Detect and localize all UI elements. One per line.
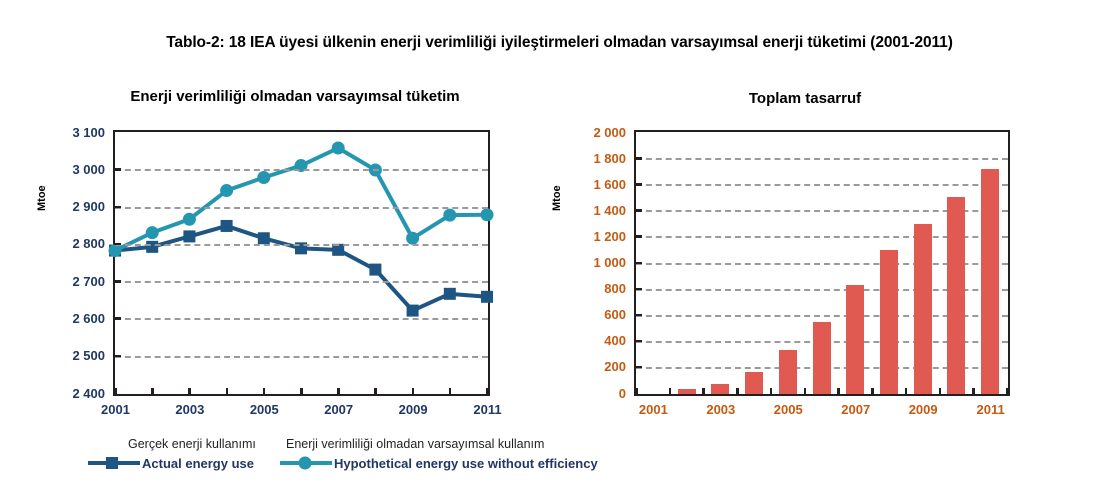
line-chart-y-tick-label: 2 400 <box>45 386 105 401</box>
line-chart-x-tick-label: 2007 <box>309 402 369 417</box>
bar-chart-bar <box>981 169 999 394</box>
bar-chart-gridline <box>636 158 1008 160</box>
line-chart-data-point <box>146 241 158 253</box>
bar-chart-bar <box>880 250 898 394</box>
line-chart-data-point <box>407 305 419 317</box>
line-chart-x-tick-label: 2001 <box>86 402 146 417</box>
line-chart-y-tick-label: 2 700 <box>45 274 105 289</box>
bar-chart-bar <box>678 389 696 394</box>
bar-chart-bar <box>846 285 864 394</box>
line-chart-y-tick-label: 2 900 <box>45 199 105 214</box>
line-chart-gridline <box>115 281 488 283</box>
line-chart-y-tick <box>114 206 121 209</box>
line-chart-data-point <box>443 209 456 222</box>
bar-chart-y-tick <box>635 235 642 238</box>
bar-chart-y-tick-label: 2 000 <box>566 125 626 140</box>
line-chart-x-tick <box>337 388 340 395</box>
bar-chart-y-tick-label: 1 200 <box>566 229 626 244</box>
bar-chart-x-tick <box>871 388 874 395</box>
bar-chart-bar <box>813 322 831 394</box>
bar-chart-bar <box>711 384 729 394</box>
line-chart-y-tick-label: 3 000 <box>45 162 105 177</box>
bar-chart-y-tick <box>635 366 642 369</box>
bar-chart-bar <box>914 224 932 394</box>
bar-chart-y-axis-unit: Mtoe <box>551 171 563 211</box>
line-chart-gridline <box>115 356 488 358</box>
bar-chart-x-tick-label: 2003 <box>691 402 751 417</box>
line-chart-data-point <box>183 230 195 242</box>
bar-chart-y-tick <box>635 157 642 160</box>
line-chart-x-tick-label: 2011 <box>458 402 518 417</box>
line-chart-y-tick <box>114 355 121 358</box>
line-chart-data-point <box>481 208 494 221</box>
bar-chart-x-tick <box>1006 388 1009 395</box>
line-chart-data-point <box>221 220 233 232</box>
line-chart-data-point <box>146 226 159 239</box>
line-chart-data-point <box>183 213 196 226</box>
line-chart-data-point <box>444 288 456 300</box>
line-chart-data-point <box>406 232 419 245</box>
line-chart-y-tick-label: 2 600 <box>45 311 105 326</box>
bar-chart-x-tick-label: 2005 <box>758 402 818 417</box>
bar-chart-y-tick-label: 600 <box>566 307 626 322</box>
bar-chart-y-tick <box>635 314 642 317</box>
bar-chart-y-tick <box>635 183 642 186</box>
bar-chart-y-tick <box>635 262 642 265</box>
line-chart-gridline <box>115 244 488 246</box>
line-chart-x-tick <box>412 388 415 395</box>
bar-chart-y-tick-label: 800 <box>566 281 626 296</box>
chart-legend: Gerçek enerji kullanımı Actual energy us… <box>86 437 606 487</box>
legend-label-hypothetical-energy-use-en: Hypothetical energy use without efficien… <box>334 456 598 471</box>
bar-chart-x-tick <box>635 388 638 395</box>
bar-chart-x-tick-label: 2011 <box>961 402 1021 417</box>
bar-chart-x-tick <box>905 388 908 395</box>
line-chart-y-tick-label: 2 500 <box>45 348 105 363</box>
line-chart-series-line <box>115 226 487 311</box>
bar-chart-x-tick <box>804 388 807 395</box>
line-chart-x-tick <box>151 388 154 395</box>
line-chart-gridline <box>115 169 488 171</box>
legend-symbol-square-line <box>86 455 142 471</box>
figure-title: Tablo-2: 18 IEA üyesi ülkenin enerji ver… <box>0 34 1119 52</box>
line-chart-x-tick <box>188 388 191 395</box>
line-chart-data-point <box>332 142 345 155</box>
bar-chart-title: Toplam tasarruf <box>640 90 970 107</box>
bar-chart-bar <box>745 372 763 394</box>
line-chart-x-tick <box>114 388 117 395</box>
bar-chart-plot-area <box>634 130 1010 396</box>
legend-label-actual-energy-use-en: Actual energy use <box>142 456 254 471</box>
line-chart-data-point <box>109 244 122 257</box>
line-chart-data-point <box>481 291 493 303</box>
bar-chart-gridline <box>636 184 1008 186</box>
bar-chart-bar <box>779 350 797 394</box>
line-chart-gridline <box>115 318 488 320</box>
line-chart-y-tick <box>114 280 121 283</box>
bar-chart-y-tick <box>635 340 642 343</box>
line-chart-x-tick <box>263 388 266 395</box>
line-chart-y-tick <box>114 317 121 320</box>
line-chart-y-tick <box>114 168 121 171</box>
bar-chart-x-tick-label: 2001 <box>623 402 683 417</box>
bar-chart-x-tick <box>972 388 975 395</box>
line-chart-y-tick <box>114 243 121 246</box>
legend-symbol-circle-line <box>278 455 334 471</box>
line-chart-data-point <box>220 184 233 197</box>
bar-chart-y-tick-label: 200 <box>566 359 626 374</box>
line-chart-data-point <box>258 232 270 244</box>
bar-chart-x-tick <box>702 388 705 395</box>
line-chart-x-tick <box>449 388 452 395</box>
line-chart-y-tick-label: 3 100 <box>45 125 105 140</box>
line-chart-x-tick-label: 2009 <box>383 402 443 417</box>
bar-chart-x-tick <box>770 388 773 395</box>
bar-chart-x-tick <box>736 388 739 395</box>
bar-chart-y-tick-label: 400 <box>566 333 626 348</box>
line-chart-plot-area <box>113 130 490 396</box>
bar-chart-y-tick-label: 1 000 <box>566 255 626 270</box>
bar-chart-y-tick <box>635 288 642 291</box>
line-chart-series-svg <box>115 132 492 398</box>
line-chart-data-point <box>369 264 381 276</box>
bar-chart-bar <box>947 197 965 394</box>
line-chart-x-tick <box>226 388 229 395</box>
line-chart-title: Enerji verimliliği olmadan varsayımsal t… <box>60 88 530 105</box>
line-chart-x-tick <box>300 388 303 395</box>
legend-label-hypothetical-energy-use-tr: Enerji verimliliği olmadan varsayımsal k… <box>286 437 544 451</box>
line-chart-y-tick-label: 2 800 <box>45 236 105 251</box>
bar-chart-x-tick-label: 2009 <box>893 402 953 417</box>
legend-label-actual-energy-use-tr: Gerçek enerji kullanımı <box>128 437 256 451</box>
bar-chart-y-tick-label: 1 600 <box>566 177 626 192</box>
bar-chart-x-tick <box>837 388 840 395</box>
line-chart-x-tick-label: 2003 <box>160 402 220 417</box>
bar-chart-y-tick-label: 1 400 <box>566 203 626 218</box>
bar-chart-x-tick <box>669 388 672 395</box>
bar-chart-y-tick-label: 0 <box>566 386 626 401</box>
line-chart-x-tick <box>374 388 377 395</box>
bar-chart-x-tick-label: 2007 <box>826 402 886 417</box>
line-chart-x-tick <box>486 388 489 395</box>
bar-chart-x-tick <box>939 388 942 395</box>
line-chart-x-tick-label: 2005 <box>234 402 294 417</box>
bar-chart-y-tick <box>635 209 642 212</box>
bar-chart-y-tick-label: 1 800 <box>566 151 626 166</box>
line-chart-gridline <box>115 207 488 209</box>
line-chart-data-point <box>257 171 270 184</box>
